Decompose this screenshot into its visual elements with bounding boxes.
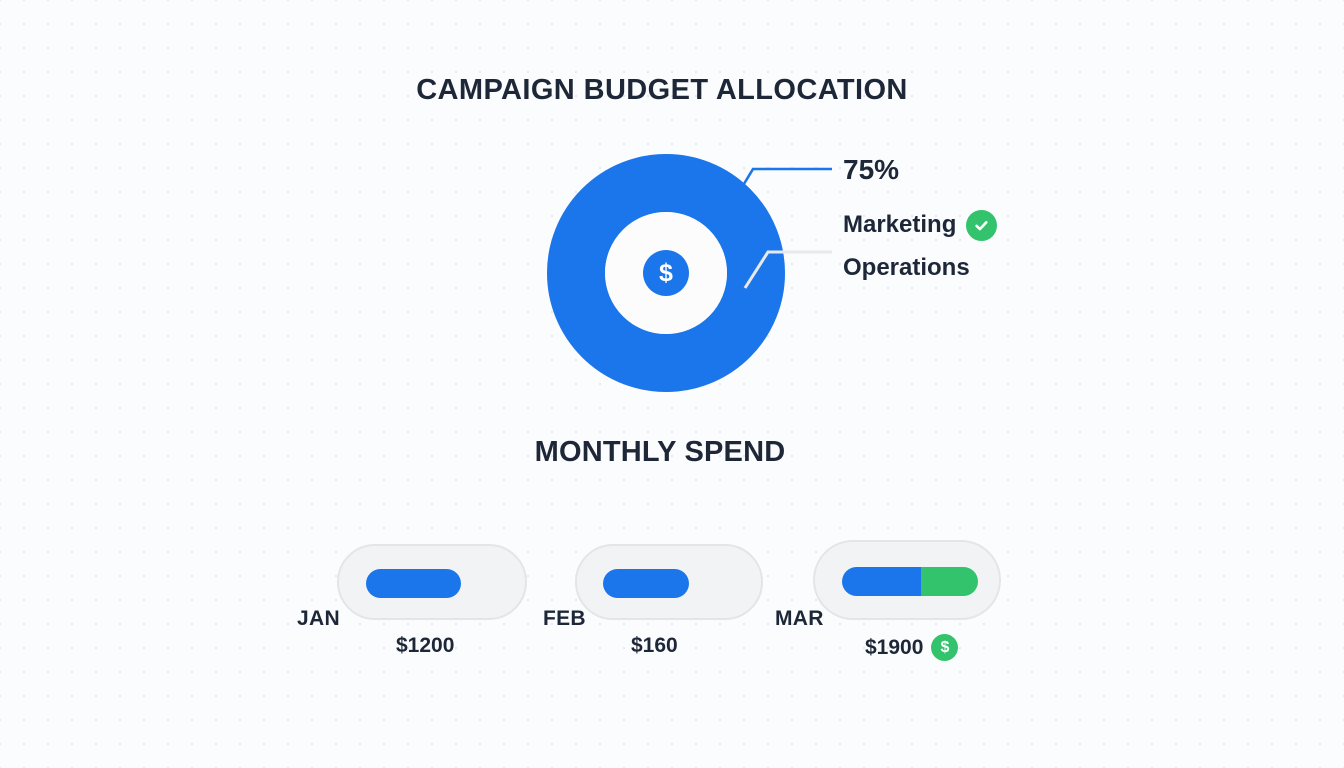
bar-track-feb[interactable] [575, 544, 763, 620]
bar-value-feb-text: $160 [631, 634, 678, 658]
donut-legend: 75% Marketing Operations [843, 156, 1103, 295]
bar-segment-feb-blue [603, 569, 689, 598]
legend-label-operations: Operations [843, 255, 970, 281]
infographic-canvas: CAMPAIGN BUDGET ALLOCATION $ 75% Marketi… [0, 0, 1344, 768]
page-title: CAMPAIGN BUDGET ALLOCATION [0, 74, 1334, 107]
legend-label-marketing: Marketing [843, 212, 956, 238]
bar-value-jan: $1200 [396, 634, 454, 658]
callout-percentage: 75% [843, 156, 1103, 184]
legend-item-marketing[interactable]: Marketing [843, 210, 1103, 241]
check-circle-icon [966, 210, 997, 241]
section-title-monthly-spend: MONTHLY SPEND [0, 436, 1332, 469]
bar-track-mar[interactable] [813, 540, 1001, 620]
bar-value-feb: $160 [631, 634, 678, 658]
bar-label-jan: JAN [297, 607, 340, 631]
bar-segment-jan-blue [366, 569, 461, 598]
bar-fill-feb [603, 569, 689, 598]
bar-segment-mar-blue [842, 567, 921, 596]
bar-fill-jan [366, 569, 461, 598]
bar-label-feb: FEB [543, 607, 586, 631]
bar-value-mar-text: $1900 [865, 636, 923, 660]
bar-fill-mar [842, 567, 978, 596]
bar-track-jan[interactable] [337, 544, 527, 620]
dollar-icon: $ [643, 250, 689, 296]
bar-label-mar: MAR [775, 607, 824, 631]
bar-value-jan-text: $1200 [396, 634, 454, 658]
bar-value-mar: $1900 $ [865, 634, 958, 661]
legend-item-operations[interactable]: Operations [843, 255, 1103, 281]
dollar-badge-icon: $ [931, 634, 958, 661]
bar-segment-mar-green [921, 567, 978, 596]
